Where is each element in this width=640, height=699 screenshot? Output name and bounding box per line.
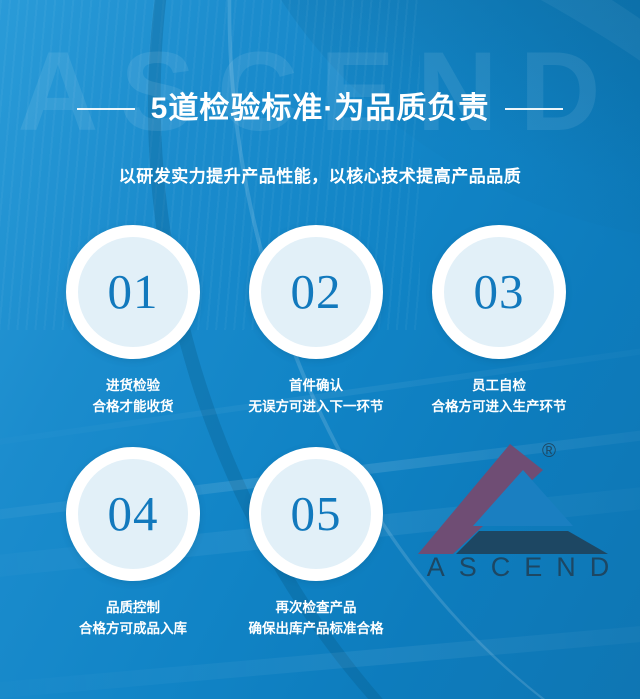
- step-item-03: 03 员工自检 合格方可进入生产环节: [432, 225, 566, 418]
- step-caption-line2: 确保出库产品标准合格: [249, 619, 384, 640]
- step-caption-line1: 再次检查产品: [276, 600, 357, 615]
- step-caption-line1: 进货检验: [106, 378, 160, 393]
- title-rule-left: [77, 108, 135, 110]
- step-caption-line1: 员工自检: [472, 378, 526, 393]
- step-circle-inner: 02: [261, 237, 371, 347]
- step-circle: 01: [66, 225, 200, 359]
- step-item-02: 02 首件确认 无误方可进入下一环节: [249, 225, 383, 418]
- step-circle-inner: 05: [261, 459, 371, 569]
- title-rule-right: [505, 108, 563, 110]
- step-number: 02: [291, 267, 342, 316]
- step-caption-line2: 合格方可成品入库: [79, 619, 187, 640]
- step-circle-inner: 01: [78, 237, 188, 347]
- ascend-logo-mark: [408, 436, 628, 558]
- step-item-05: 05 再次检查产品 确保出库产品标准合格: [249, 447, 383, 640]
- step-item-04: 04 品质控制 合格方可成品入库: [66, 447, 200, 640]
- step-circle: 02: [249, 225, 383, 359]
- step-circle-inner: 04: [78, 459, 188, 569]
- step-caption: 再次检查产品 确保出库产品标准合格: [249, 598, 384, 640]
- step-circle: 04: [66, 447, 200, 581]
- page-title: 5道检验标准·为品质负责: [151, 92, 490, 125]
- step-caption: 品质控制 合格方可成品入库: [79, 598, 187, 640]
- step-item-01: 01 进货检验 合格才能收货: [66, 225, 200, 418]
- steps-row-1: 01 进货检验 合格才能收货 02 首件确认 无误方可进入下一环节: [0, 225, 640, 418]
- step-caption-line2: 合格才能收货: [93, 397, 174, 418]
- page-subtitle: 以研发实力提升产品性能，以核心技术提高产品品质: [0, 162, 640, 187]
- step-caption: 进货检验 合格才能收货: [93, 376, 174, 418]
- logo-wordmark: ASCEND: [412, 554, 624, 581]
- step-caption-line1: 品质控制: [106, 600, 160, 615]
- registered-trademark-icon: ®: [542, 442, 556, 461]
- logo-navy-base: [456, 531, 608, 554]
- step-number: 05: [291, 489, 342, 538]
- header: 5道检验标准·为品质负责 以研发实力提升产品性能，以核心技术提高产品品质: [0, 0, 640, 187]
- step-caption: 员工自检 合格方可进入生产环节: [432, 376, 567, 418]
- step-number: 01: [108, 267, 159, 316]
- step-number: 03: [474, 267, 525, 316]
- step-caption-line2: 合格方可进入生产环节: [432, 397, 567, 418]
- step-caption-line2: 无误方可进入下一环节: [249, 397, 384, 418]
- ascend-logo: ® ASCEND: [408, 436, 628, 601]
- step-circle: 03: [432, 225, 566, 359]
- step-caption: 首件确认 无误方可进入下一环节: [249, 376, 384, 418]
- step-circle: 05: [249, 447, 383, 581]
- step-number: 04: [108, 489, 159, 538]
- step-circle-inner: 03: [444, 237, 554, 347]
- title-row: 5道检验标准·为品质负责: [0, 72, 640, 145]
- poster-root: ASCEND 5道检验标准·为品质负责 以研发实力提升产品性能，以核心技术提高产…: [0, 0, 640, 699]
- step-caption-line1: 首件确认: [289, 378, 343, 393]
